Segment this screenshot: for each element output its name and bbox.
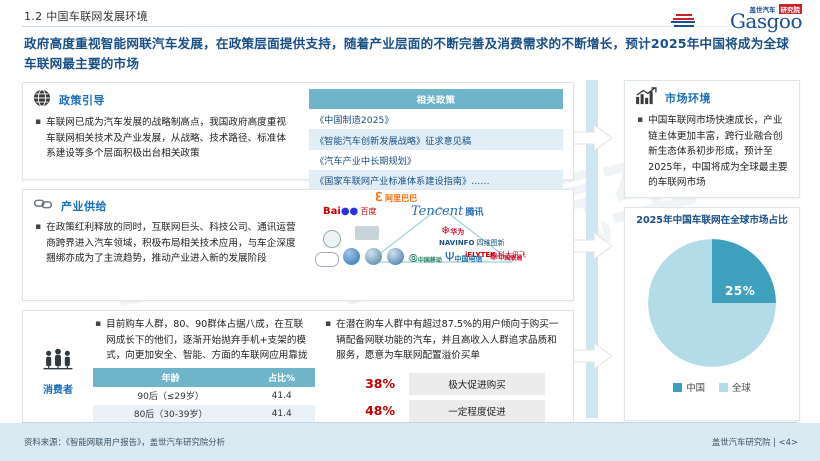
policy-item: 《汽车产业中长期规划》: [309, 150, 563, 170]
pct-value: 48%: [359, 403, 395, 418]
table-row: 《智能汽车创新发展战略》征求意见稿: [309, 129, 563, 149]
logo-misc-1: [315, 252, 339, 269]
purchase-influence-row: 48% 一定程度促进: [359, 400, 565, 422]
industry-supply-card: 产业供给 ▪ 在政策红利释放的同时，互联网巨头、科技公司、通讯运营商跨界进入汽车…: [22, 189, 574, 301]
pct-value: 38%: [359, 376, 395, 391]
table-row: 《国家车联网产业标准体系建设指南》……: [309, 170, 563, 190]
gasgoo-logo: 盖世汽车 研究院 Gasgoo: [670, 4, 802, 34]
supply-card-header: 产业供给: [23, 190, 313, 218]
right-column: 市场环境 ▪ 中国车联网市场快速成长，产业链主体更加丰富，跨行业融合创新生态体系…: [624, 80, 800, 421]
share-cell: 41.4: [248, 387, 315, 405]
policy-card-header: 政策引导: [23, 83, 305, 113]
table-row: 《汽车产业中长期规划》: [309, 150, 563, 170]
bullet-dot-icon: ▪: [637, 113, 643, 191]
logo-misc-6: [323, 230, 341, 250]
consumer-bullet-text: 目前购车人群，80、90群体占据八成，在互联网成长下的他们，逐渐开始抛弃手机+支…: [106, 317, 311, 364]
policy-item: 《国家车联网产业标准体系建设指南》……: [309, 170, 563, 190]
page-title: 1.2 中国车联网发展环境: [24, 8, 148, 24]
chart-title: 2025年中国车联网在全球市场占比: [631, 214, 793, 228]
logo-china-unicom: ❁中国联通: [489, 250, 522, 263]
pie-chart: 25%: [641, 232, 783, 374]
legend-label-global: 全球: [732, 380, 751, 394]
left-column: 政策引导 ▪ 车联网已成为汽车发展的战略制高点，我国政府高度重视车联网相关技术及…: [22, 82, 574, 434]
legend-item-global: 全球: [719, 380, 751, 394]
policy-card-bullet-text: 车联网已成为汽车发展的战略制高点，我国政府高度重视车联网相关技术及产业发展，从战…: [46, 115, 295, 162]
market-card-bullet: ▪ 中国车联网市场快速成长，产业链主体更加丰富，跨行业融合创新生态体系初步形成，…: [625, 111, 799, 199]
consumer-bullet: ▪ 目前购车人群，80、90群体占据八成，在互联网成长下的他们，逐渐开始抛弃手机…: [93, 311, 315, 368]
col-age: 年龄: [93, 368, 248, 387]
pct-label: 一定程度促进: [409, 400, 545, 422]
logo-tencent: Tencent 腾讯: [411, 204, 484, 219]
footer-page-info: 盖世汽车研究院 | <4>: [712, 436, 798, 448]
table-row: 90后（≤29岁）41.4: [93, 387, 315, 405]
market-environment-card: 市场环境 ▪ 中国车联网市场快速成长，产业链主体更加丰富，跨行业融合创新生态体系…: [624, 80, 800, 198]
consumer-right-bullet-text: 在潜在购车人群中有超过87.5%的用户倾向于购买一辆配备网联功能的汽车，并且高收…: [336, 317, 565, 364]
supply-card-bullet: ▪ 在政策红利释放的同时，互联网巨头、科技公司、通讯运营商跨界进入汽车领域，积极…: [23, 218, 313, 275]
logo-alibaba: ℇ 阿里巴巴: [375, 190, 417, 204]
col-share: 占比%: [248, 368, 315, 387]
market-card-bullet-text: 中国车联网市场快速成长，产业链主体更加丰富，跨行业融合创新生态体系初步形成，预计…: [648, 113, 789, 191]
consumer-right-bullet: ▪ 在潜在购车人群中有超过87.5%的用户倾向于购买一辆配备网联功能的汽车，并且…: [325, 317, 565, 368]
partner-logo-collage: ℇ 阿里巴巴 Bai●● 百度 Tencent 腾讯 ❄华为: [313, 190, 573, 282]
logo-misc-5: [355, 226, 379, 242]
pie-chart-svg: [641, 232, 783, 374]
headline: 政府高度重视智能网联汽车发展，在政策层面提供支持，随着产业层面的不断完善及消费需…: [24, 34, 796, 73]
globe-icon: [33, 89, 51, 111]
bullet-dot-icon: ▪: [325, 317, 331, 364]
pie-data-label: 25%: [725, 284, 755, 298]
consumer-card: 消费者 ▪ 目前购车人群，80、90群体占据八成，在互联网成长下的他们，逐渐开始…: [22, 310, 574, 434]
legend-label-china: 中国: [686, 380, 705, 394]
logo-huawei: ❄华为: [441, 224, 464, 237]
supply-card-bullet-text: 在政策红利释放的同时，互联网巨头、科技公司、通讯运营商跨界进入汽车领域，积极布局…: [46, 220, 303, 267]
market-card-title: 市场环境: [665, 90, 711, 106]
bullet-dot-icon: ▪: [35, 115, 41, 162]
supply-card-title: 产业供给: [61, 198, 107, 214]
policy-card-title: 政策引导: [59, 92, 105, 108]
bullet-dot-icon: ▪: [95, 317, 101, 364]
slide-root: 1.2 中国车联网发展环境 盖世汽车 研究院 Gasgoo 政府高度重视智能网联…: [0, 0, 820, 461]
logo-bars-icon: [670, 14, 696, 28]
age-cell: 90后（≤29岁）: [93, 387, 248, 405]
age-cell: 80后（30-39岁）: [93, 405, 248, 423]
people-group-icon: [41, 348, 75, 378]
market-card-header: 市场环境: [625, 81, 799, 111]
policy-guidance-card: 政策引导 ▪ 车联网已成为汽车发展的战略制高点，我国政府高度重视车联网相关技术及…: [22, 82, 574, 180]
policy-table: 相关政策 《中国制造2025》 《智能汽车创新发展战略》征求意见稿 《汽车产业中…: [309, 89, 563, 191]
bullet-dot-icon: ▪: [35, 220, 41, 267]
legend-swatch-china: [673, 383, 682, 392]
footer-source: 资料来源：《智能网联用户报告》，盖世汽车研究院分析: [24, 436, 225, 448]
logo-misc-4: [387, 248, 404, 267]
chain-link-icon: [33, 196, 53, 216]
chart-legend: 中国 全球: [625, 380, 799, 394]
share-cell: 41.4: [248, 405, 315, 423]
logo-misc-2: [343, 248, 360, 267]
purchase-influence-row: 38% 极大促进购买: [359, 373, 565, 395]
bar-chart-growth-icon: [635, 87, 657, 109]
pct-label: 极大促进购买: [409, 373, 545, 395]
policy-item: 《中国制造2025》: [309, 109, 563, 129]
policy-card-bullet: ▪ 车联网已成为汽车发展的战略制高点，我国政府高度重视车联网相关技术及产业发展，…: [23, 113, 305, 170]
legend-swatch-global: [719, 383, 728, 392]
market-share-chart-card: 2025年中国车联网在全球市场占比 25% 中国 全球: [624, 207, 800, 421]
consumer-icon-label: 消费者: [43, 381, 73, 396]
logo-china-telecom: Ψ中国电信: [445, 250, 482, 264]
policy-item: 《智能汽车创新发展战略》征求意见稿: [309, 129, 563, 149]
legend-item-china: 中国: [673, 380, 705, 394]
logo-baidu: Bai●● 百度: [323, 206, 377, 217]
table-row: 《中国制造2025》: [309, 109, 563, 129]
policy-table-header: 相关政策: [309, 89, 563, 109]
table-row: 80后（30-39岁）41.4: [93, 405, 315, 423]
logo-china-mobile: ⦾中国移动: [409, 252, 442, 266]
logo-misc-3: [365, 248, 382, 267]
logo-wordmark: Gasgoo: [730, 11, 802, 31]
logo-navinfo: NAVINFO 四维图新: [439, 238, 505, 248]
